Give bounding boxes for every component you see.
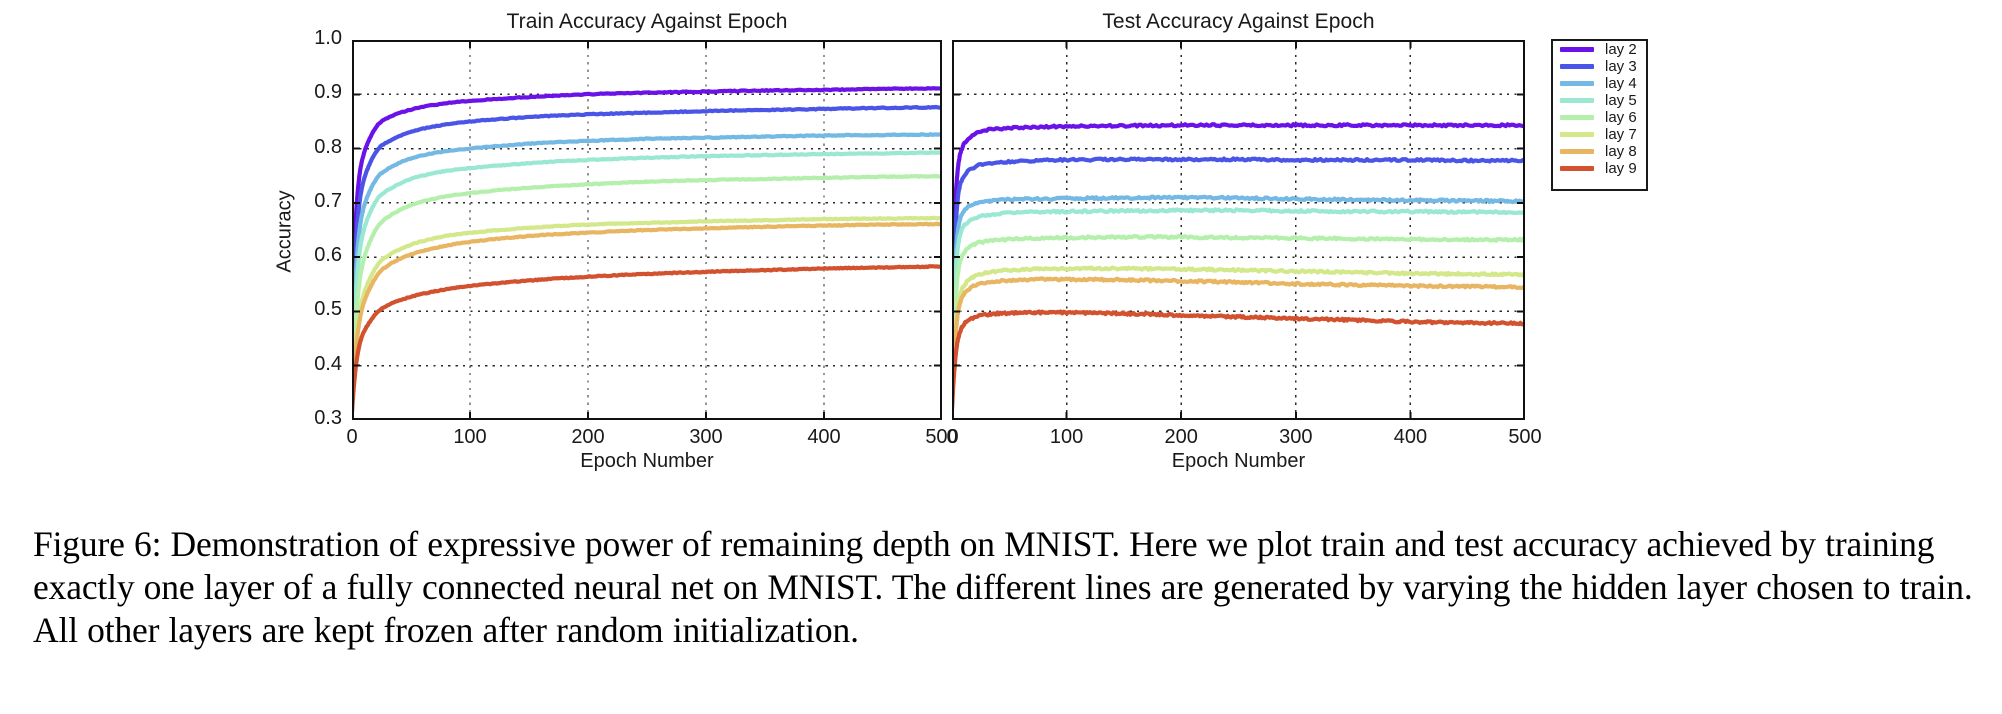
series-line-lay-3 [352,107,942,393]
train-plot-title: Train Accuracy Against Epoch [352,10,942,34]
legend-item-lay-3[interactable]: lay 3 [1553,58,1646,75]
legend-color-swatch [1560,115,1594,120]
ytick-label: 0.7 [294,190,342,213]
series-legend[interactable]: lay 2lay 3lay 4lay 5lay 6lay 7lay 8lay 9 [1551,39,1648,191]
legend-color-swatch [1560,47,1594,52]
series-group [952,124,1525,409]
xtick-label: 100 [435,426,505,449]
train-xaxis-label: Epoch Number [352,450,942,473]
legend-color-swatch [1560,166,1594,171]
xtick-label: 200 [553,426,623,449]
legend-item-lay-4[interactable]: lay 4 [1553,75,1646,92]
test-plot-title: Test Accuracy Against Epoch [952,10,1525,34]
test-accuracy-plot [952,40,1525,420]
ytick-label: 0.4 [294,353,342,376]
legend-item-lay-9[interactable]: lay 9 [1553,160,1646,177]
ytick-label: 0.9 [294,81,342,104]
legend-item-label: lay 2 [1605,42,1637,57]
ytick-label: 0.6 [294,244,342,267]
legend-item-lay-7[interactable]: lay 7 [1553,126,1646,143]
legend-item-label: lay 8 [1605,144,1637,159]
xtick-label: 500 [1490,426,1560,449]
axes-frame [953,41,1525,420]
legend-item-label: lay 5 [1605,93,1637,108]
figure-caption: Figure 6: Demonstration of expressive po… [33,523,1973,652]
series-line-lay-2 [952,124,1525,387]
legend-color-swatch [1560,81,1594,86]
legend-item-label: lay 6 [1605,110,1637,125]
train-plot-canvas [352,40,942,420]
legend-color-swatch [1560,98,1594,103]
xtick-label: 100 [1032,426,1102,449]
xtick-label: 300 [1261,426,1331,449]
series-group [352,88,942,412]
test-xaxis-label: Epoch Number [952,450,1525,473]
legend-item-lay-2[interactable]: lay 2 [1553,41,1646,58]
ytick-label: 0.5 [294,298,342,321]
train-accuracy-plot [352,40,942,420]
xtick-label: 0 [317,426,387,449]
xtick-label: 400 [1375,426,1445,449]
test-plot-canvas [952,40,1525,420]
legend-color-swatch [1560,64,1594,69]
legend-item-label: lay 3 [1605,59,1637,74]
xtick-label: 300 [671,426,741,449]
legend-color-swatch [1560,149,1594,154]
legend-item-lay-8[interactable]: lay 8 [1553,143,1646,160]
legend-item-lay-5[interactable]: lay 5 [1553,92,1646,109]
series-line-lay-8 [952,278,1525,406]
legend-item-lay-6[interactable]: lay 6 [1553,109,1646,126]
ytick-label: 0.8 [294,136,342,159]
xtick-label: 200 [1146,426,1216,449]
legend-item-label: lay 4 [1605,76,1637,91]
legend-item-label: lay 7 [1605,127,1637,142]
legend-color-swatch [1560,132,1594,137]
legend-item-label: lay 9 [1605,161,1637,176]
series-line-lay-8 [352,224,942,409]
series-line-lay-9 [952,312,1525,410]
series-line-lay-9 [352,266,942,412]
figure-6: Train Accuracy Against Epoch Epoch Numbe… [0,0,2002,714]
ytick-label: 1.0 [294,27,342,50]
xtick-label: 0 [917,426,987,449]
series-line-lay-4 [952,197,1525,393]
xtick-label: 400 [789,426,859,449]
